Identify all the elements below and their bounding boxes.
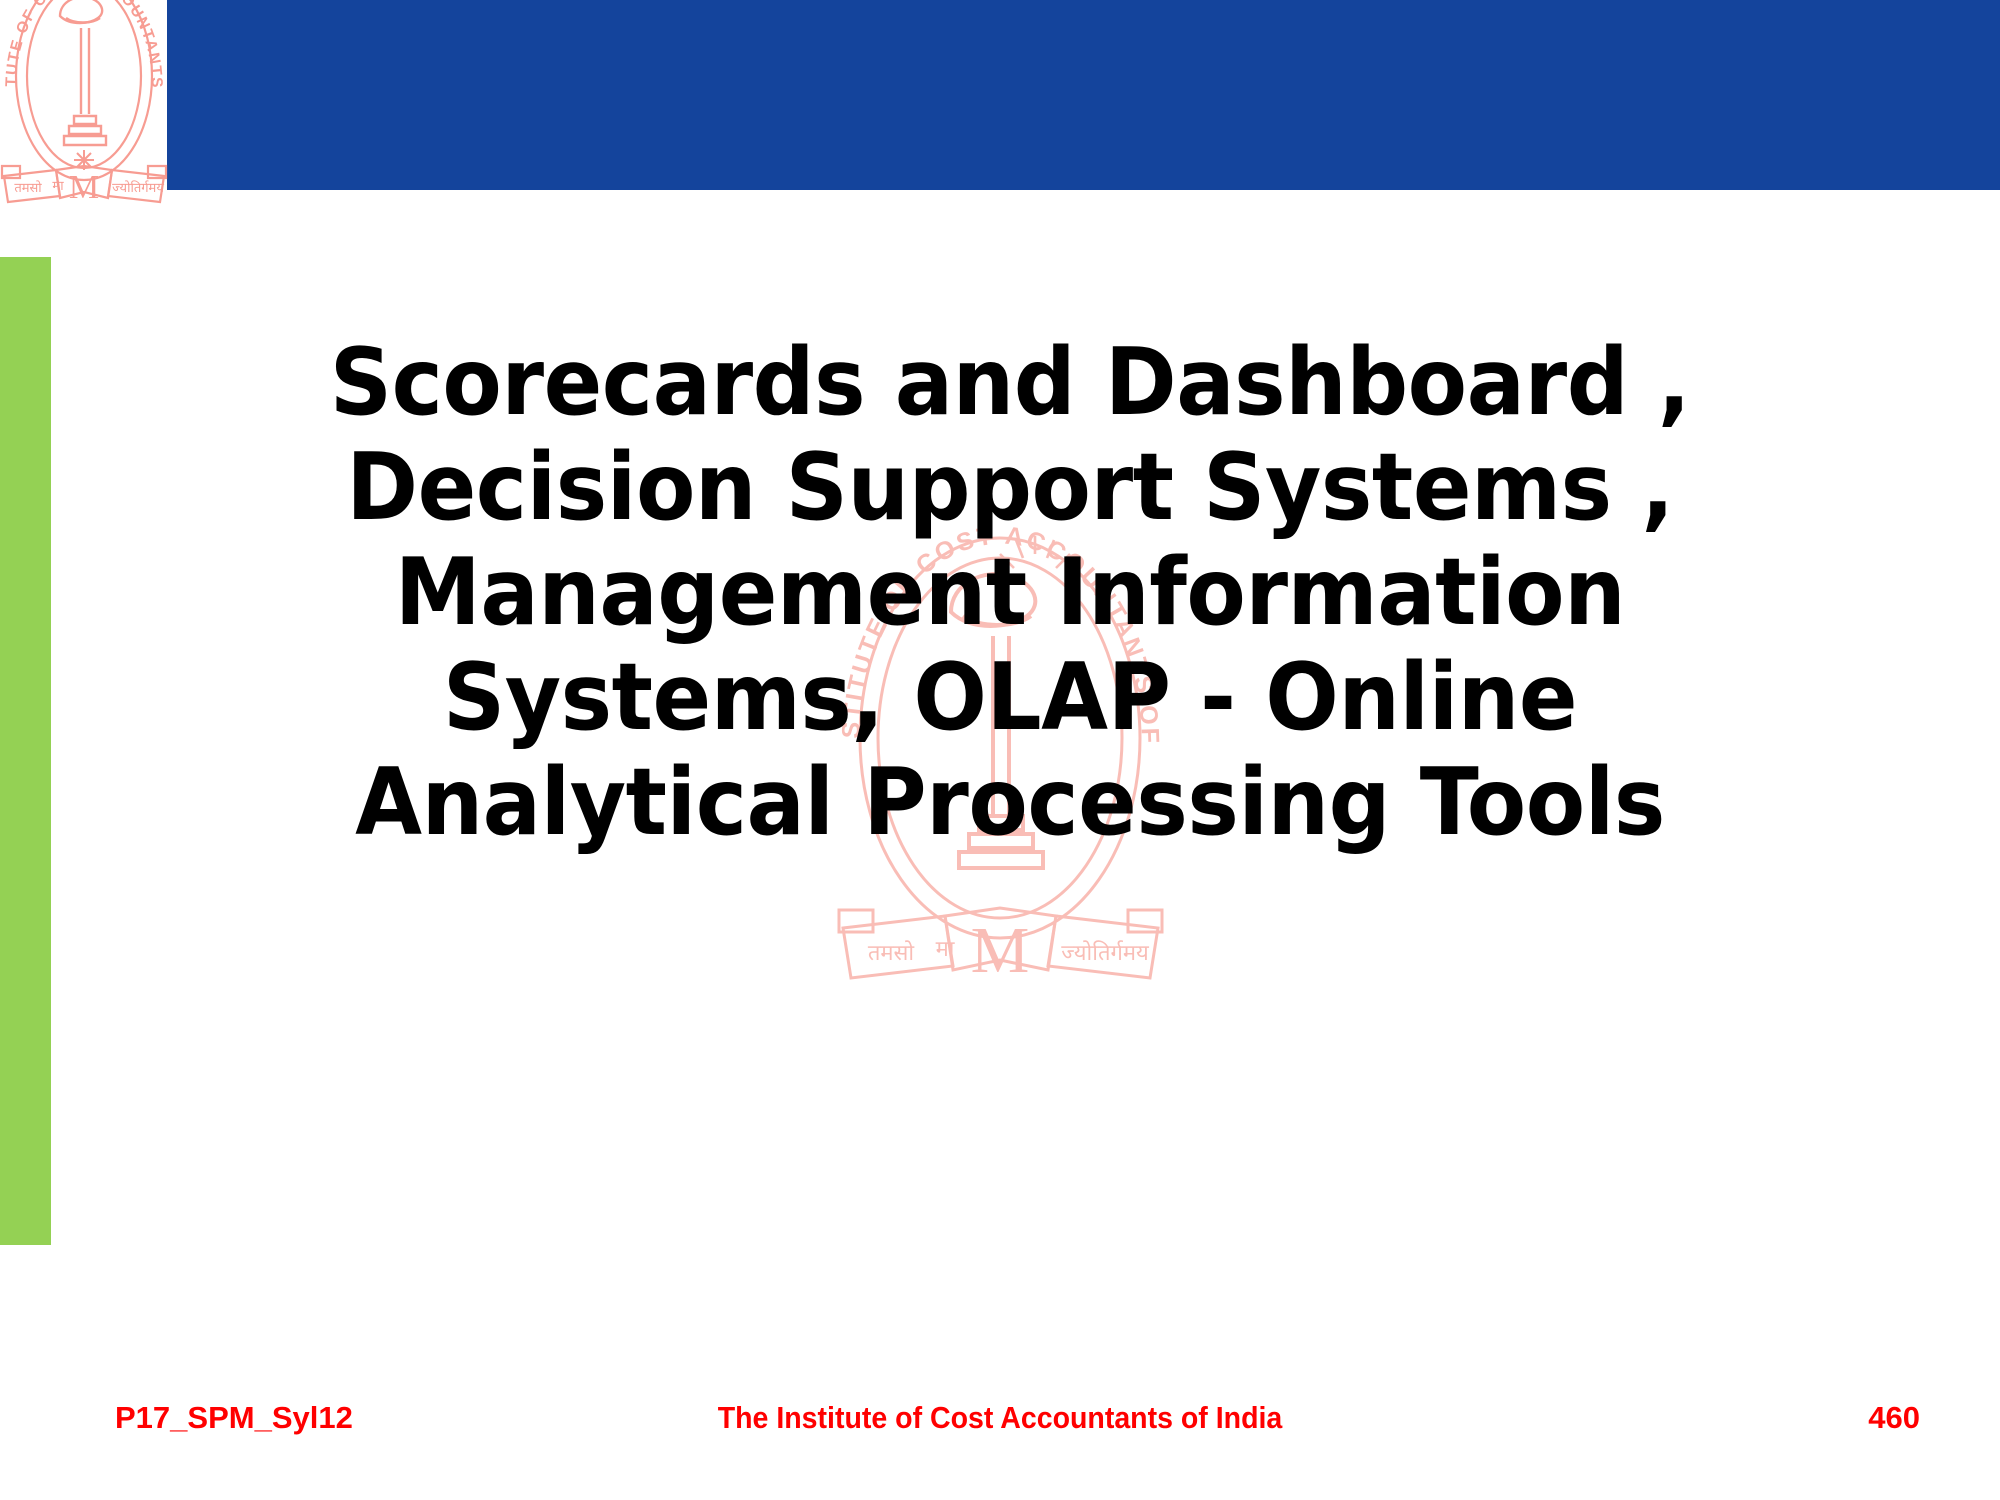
page-title: Scorecards and Dashboard , Decision Supp… — [150, 330, 1870, 855]
left-accent-bar — [0, 257, 51, 1245]
svg-text:M: M — [971, 914, 1030, 987]
svg-text:ज्योतिर्गमय: ज्योतिर्गमय — [1061, 940, 1150, 966]
header-banner — [167, 0, 2000, 190]
slide-footer: P17_SPM_Syl12 The Institute of Cost Acco… — [0, 1396, 2000, 1446]
title-line-5: Analytical Processing Tools — [210, 750, 1810, 855]
svg-text:M: M — [69, 169, 99, 206]
icai-logo: THE INSTITUTE OF COST ACCOUNTANTS OF IND… — [0, 0, 170, 206]
slide-canvas: THE INSTITUTE OF COST ACCOUNTANTS OF IND… — [0, 0, 2000, 1500]
title-line-3: Management Information — [210, 540, 1810, 645]
footer-page-number: 460 — [1868, 1400, 1920, 1436]
title-line-2: Decision Support Systems , — [210, 435, 1810, 540]
svg-text:ज्योतिर्गमय: ज्योतिर्गमय — [112, 180, 164, 196]
svg-text:तमसो: तमसो — [868, 940, 915, 966]
svg-text:तमसो: तमसो — [14, 180, 42, 196]
title-line-1: Scorecards and Dashboard , — [210, 330, 1810, 435]
title-line-4: Systems, OLAP - Online — [210, 645, 1810, 750]
svg-text:मा: मा — [936, 937, 955, 962]
footer-organization: The Institute of Cost Accountants of Ind… — [80, 1400, 1920, 1436]
svg-text:मा: मा — [52, 179, 64, 194]
